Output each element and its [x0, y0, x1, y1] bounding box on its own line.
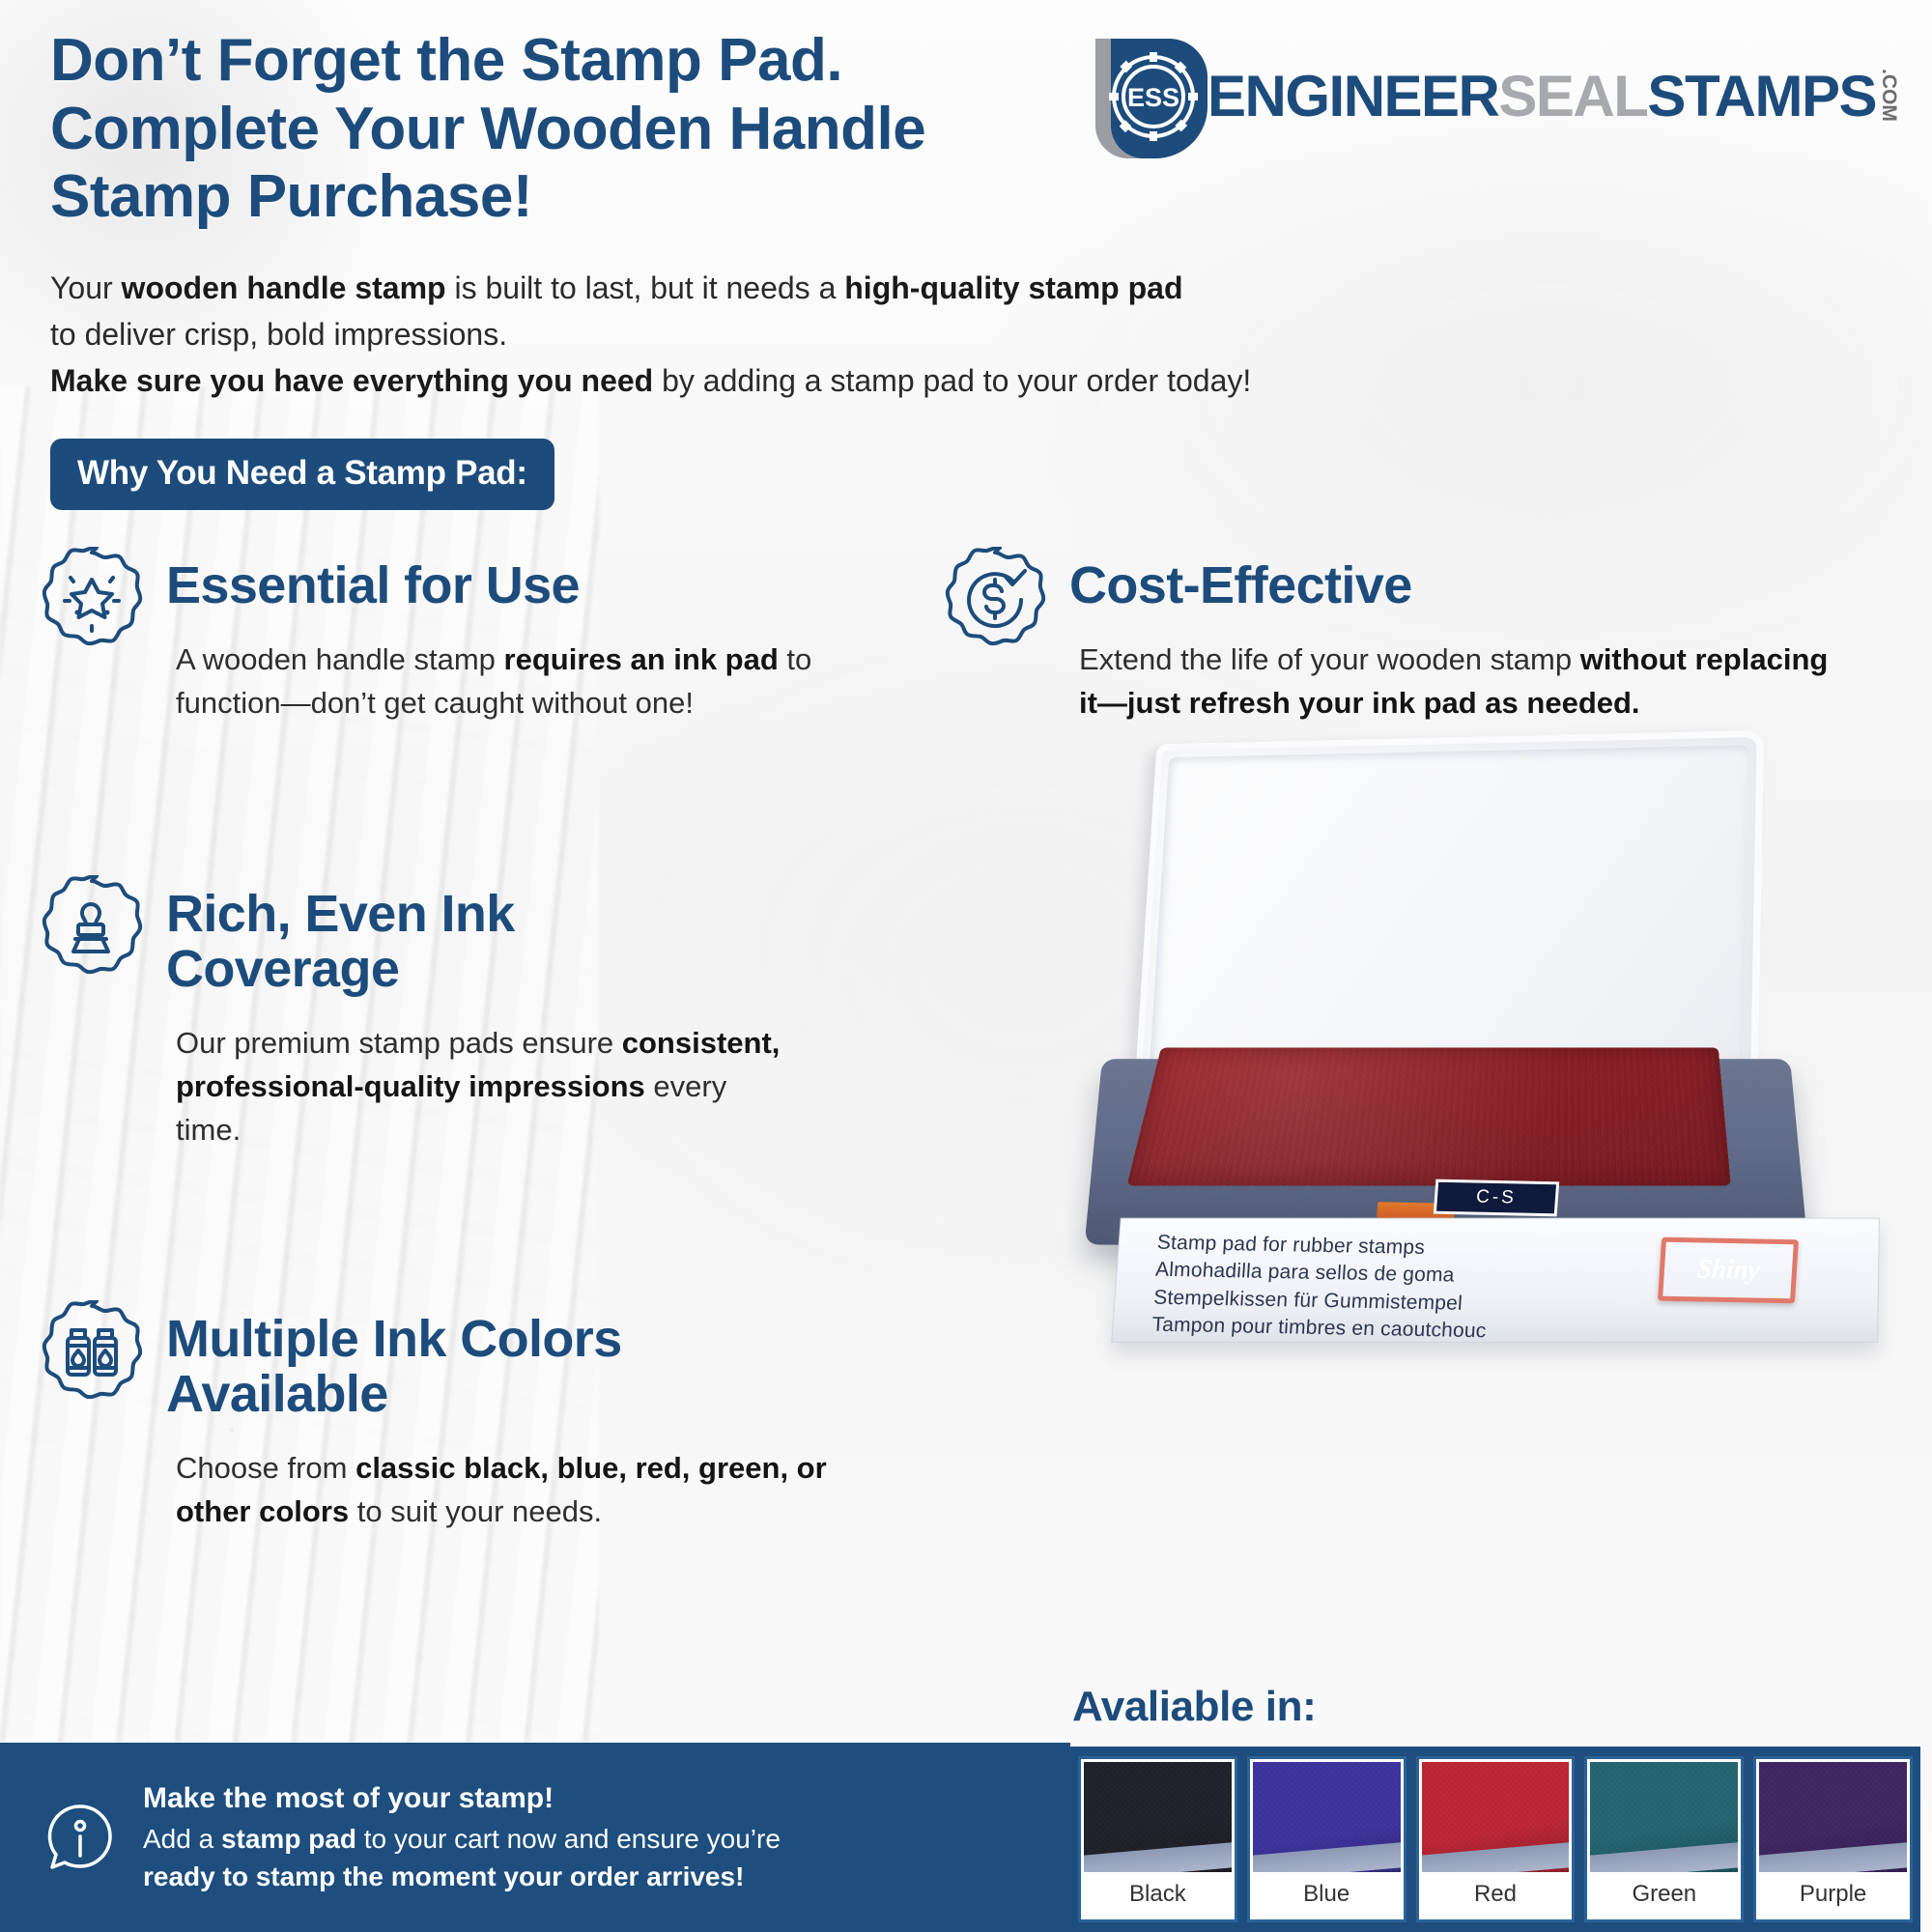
cta-text-part: to your cart now and ensure you’re: [356, 1824, 781, 1854]
intro-text: Your: [50, 270, 122, 305]
logo-word-engineer: ENGINEER: [1207, 63, 1498, 129]
feature-title: Multiple Ink Colors Available: [166, 1300, 889, 1422]
headline-line-3: Stamp Purchase!: [50, 163, 925, 232]
intro-paragraph: Your wooden handle stamp is built to las…: [50, 265, 1692, 404]
shiny-brand-logo: Shiny: [1658, 1237, 1799, 1304]
swatch-blue[interactable]: Blue: [1247, 1756, 1406, 1922]
headline-line-2: Complete Your Wooden Handle: [50, 96, 925, 164]
feature-text: Choose from classic black, blue, red, gr…: [176, 1447, 889, 1534]
cta-strong-stamp-pad: stamp pad: [221, 1824, 356, 1854]
cta-bar: Make the most of your stamp! Add a stamp…: [0, 1743, 1070, 1932]
intro-strong-high-quality-stamp-pad: high-quality stamp pad: [844, 270, 1182, 305]
section-heading-badge: Why You Need a Stamp Pad:: [50, 439, 554, 510]
rubber-stamp-badge-icon: [39, 875, 145, 981]
ink-bottles-badge-icon: [39, 1300, 145, 1406]
swatch-color-preview: [1084, 1762, 1232, 1872]
swatch-color-preview: [1253, 1762, 1401, 1872]
feature-essential-for-use: Essential for Use A wooden handle stamp …: [39, 547, 908, 725]
swatch-label: Green: [1590, 1872, 1738, 1917]
feature-title-line-1: Rich, Even Ink: [166, 887, 792, 942]
cta-line-1: Make the most of your stamp!: [143, 1778, 781, 1820]
feature-text: A wooden handle stamp requires an ink pa…: [176, 639, 908, 725]
intro-line-2: to deliver crisp, bold impressions.: [50, 311, 1692, 357]
feature-title-line-2: Available: [166, 1367, 889, 1422]
swatch-label: Black: [1084, 1872, 1232, 1917]
swatch-color-preview: [1590, 1762, 1738, 1872]
swatch-green[interactable]: Green: [1584, 1756, 1744, 1922]
feature-multiple-ink-colors: Multiple Ink Colors Available Choose fro…: [39, 1300, 889, 1534]
product-box-text: Stamp pad for rubber stamps Almohadilla …: [1151, 1230, 1492, 1346]
svg-text:ESS: ESS: [1127, 83, 1179, 112]
feature-text-part: A wooden handle stamp: [176, 642, 504, 676]
swatch-red[interactable]: Red: [1416, 1756, 1576, 1922]
feature-title-line-1: Multiple Ink Colors: [166, 1312, 889, 1367]
info-bubble-icon: [43, 1800, 118, 1875]
ess-gear-shield-icon: ESS: [1090, 33, 1213, 158]
swatch-label: Purple: [1759, 1872, 1907, 1917]
page-title: Don’t Forget the Stamp Pad. Complete You…: [50, 27, 925, 232]
star-badge-icon: [39, 547, 145, 653]
feature-title: Essential for Use: [166, 547, 908, 613]
feature-title: Cost-Effective: [1069, 547, 1831, 613]
feature-text-part: Extend the life of your wooden stamp: [1079, 642, 1580, 676]
feature-text-strong: requires an ink pad: [504, 642, 779, 676]
swatch-purple[interactable]: Purple: [1753, 1756, 1913, 1922]
header: Don’t Forget the Stamp Pad. Complete You…: [0, 0, 1932, 232]
intro-line-3: Make sure you have everything you need b…: [50, 357, 1692, 404]
feature-cost-effective: Cost-Effective Extend the life of your w…: [942, 547, 1831, 725]
swatch-color-preview: [1759, 1762, 1907, 1872]
swatch-label: Blue: [1253, 1872, 1401, 1917]
box-model-tag: C-S: [1434, 1179, 1559, 1217]
shiny-brand-label: Shiny: [1696, 1254, 1760, 1286]
logo-word-seal: SEAL: [1498, 63, 1647, 129]
color-swatch-strip: Black Blue Red Green Purple: [1070, 1747, 1920, 1932]
cta-line-2: Add a stamp pad to your cart now and ens…: [143, 1820, 781, 1859]
feature-text: Our premium stamp pads ensure consistent…: [176, 1022, 792, 1152]
swatch-color-preview: [1422, 1762, 1570, 1872]
red-ink-pad: [1127, 1047, 1731, 1185]
headline-line-1: Don’t Forget the Stamp Pad.: [50, 27, 925, 96]
intro-strong-make-sure: Make sure you have everything you need: [50, 363, 653, 398]
intro-line-1: Your wooden handle stamp is built to las…: [50, 265, 1692, 311]
feature-title: Rich, Even Ink Coverage: [166, 875, 792, 997]
feature-text: Extend the life of your wooden stamp wit…: [1079, 639, 1831, 725]
intro-text: by adding a stamp pad to your order toda…: [653, 363, 1251, 398]
cta-line-3: ready to stamp the moment your order arr…: [143, 1858, 781, 1896]
cta-text: Make the most of your stamp! Add a stamp…: [143, 1778, 781, 1896]
available-in-label: Avaliable in:: [1072, 1683, 1316, 1731]
cta-text-part: Add a: [143, 1824, 221, 1854]
swatch-black[interactable]: Black: [1078, 1756, 1237, 1922]
feature-text-part: Choose from: [176, 1451, 355, 1485]
feature-text-part: to suit your needs.: [349, 1494, 602, 1528]
feature-rich-even-ink-coverage: Rich, Even Ink Coverage Our premium stam…: [39, 875, 792, 1152]
brand-logo[interactable]: ESS ENGINEER SEAL STAMPS .COM: [1090, 27, 1899, 158]
logo-suffix-com: .COM: [1879, 69, 1899, 122]
logo-word-stamps: STAMPS: [1647, 63, 1876, 129]
swatch-label: Red: [1422, 1872, 1570, 1917]
dollar-check-badge-icon: [942, 547, 1048, 653]
feature-title-line-2: Coverage: [166, 942, 792, 997]
intro-strong-wooden-handle-stamp: wooden handle stamp: [122, 270, 446, 305]
logo-wordmark: ENGINEER SEAL STAMPS .COM: [1207, 63, 1899, 129]
infographic-page: Don’t Forget the Stamp Pad. Complete You…: [0, 0, 1932, 1932]
feature-text-part: Our premium stamp pads ensure: [176, 1026, 622, 1060]
intro-text: is built to last, but it needs a: [446, 270, 845, 305]
